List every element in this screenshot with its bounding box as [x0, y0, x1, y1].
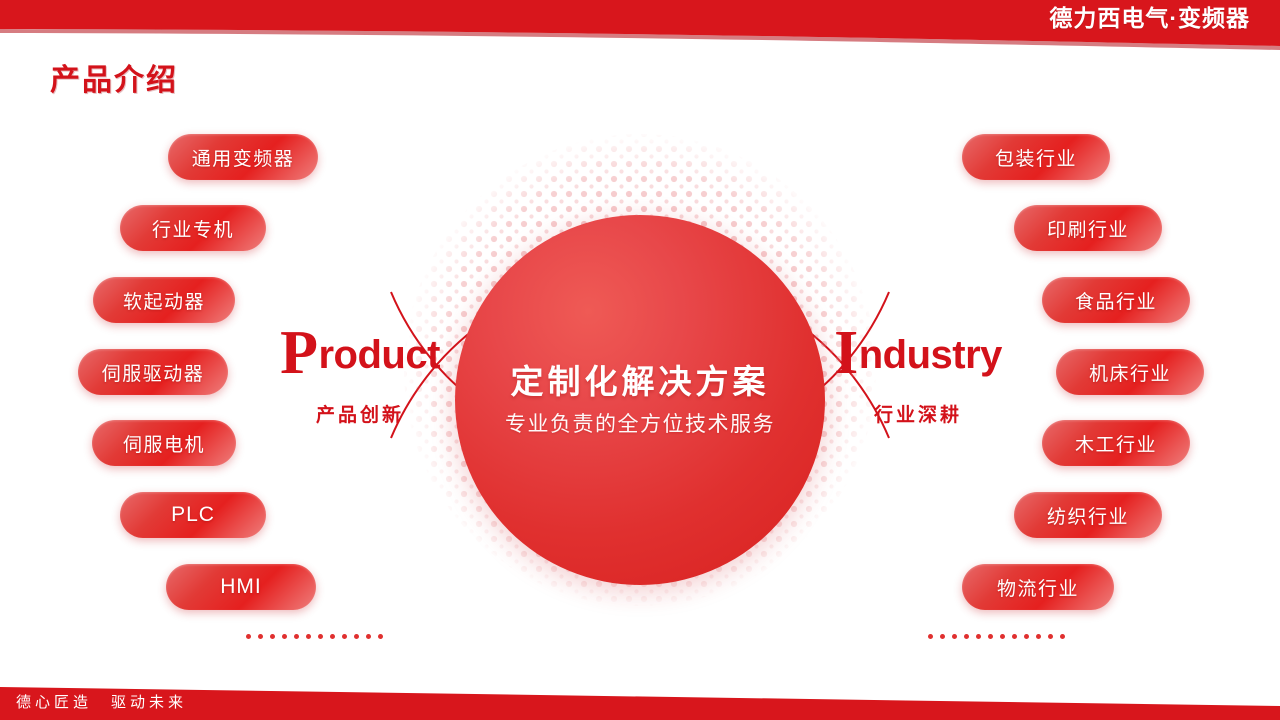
center-subtitle: 专业负责的全方位技术服务 [505, 408, 775, 438]
decorative-dot [928, 634, 933, 639]
decorative-dot [952, 634, 957, 639]
industry-pill-7[interactable]: 物流行业 [962, 564, 1114, 610]
decorative-dot [246, 634, 251, 639]
industry-heading-rest: ndustry [859, 333, 1002, 377]
industry-pill-2[interactable]: 印刷行业 [1014, 205, 1162, 251]
product-pill-label: 伺服电机 [123, 430, 205, 457]
product-pill-5[interactable]: 伺服电机 [92, 420, 236, 466]
industry-pill-label: 机床行业 [1089, 359, 1171, 386]
decorative-dot [1024, 634, 1029, 639]
industry-heading-cn: 行业深耕 [818, 400, 1018, 427]
product-dot-row [246, 634, 383, 639]
decorative-dot [270, 634, 275, 639]
industry-pill-5[interactable]: 木工行业 [1042, 420, 1190, 466]
decorative-dot [366, 634, 371, 639]
diagram-stage: 定制化解决方案 专业负责的全方位技术服务 Product 产品创新 Indust… [0, 0, 1280, 720]
product-heading-en: Product [250, 322, 470, 384]
industry-pill-1[interactable]: 包装行业 [962, 134, 1110, 180]
decorative-dot [258, 634, 263, 639]
industry-pill-label: 印刷行业 [1047, 215, 1129, 242]
decorative-dot [354, 634, 359, 639]
decorative-dot [1060, 634, 1065, 639]
industry-pill-label: 纺织行业 [1047, 502, 1129, 529]
decorative-dot [378, 634, 383, 639]
decorative-dot [1012, 634, 1017, 639]
decorative-dot [1048, 634, 1053, 639]
industry-heading-en: Industry [818, 322, 1018, 384]
slide-root: 德力西电气·变频器 产品介绍 [0, 0, 1280, 720]
product-heading-cn: 产品创新 [250, 400, 470, 427]
decorative-dot [318, 634, 323, 639]
decorative-dot [294, 634, 299, 639]
product-pill-label: 行业专机 [152, 215, 234, 242]
product-pill-4[interactable]: 伺服驱动器 [78, 349, 228, 395]
footer-slogan: 德心匠造 驱动未来 [16, 691, 187, 712]
product-pill-label: 通用变频器 [192, 144, 295, 171]
product-pill-label: HMI [220, 575, 262, 599]
center-title: 定制化解决方案 [511, 362, 770, 402]
industry-pill-6[interactable]: 纺织行业 [1014, 492, 1162, 538]
industry-pill-label: 食品行业 [1075, 287, 1157, 314]
decorative-dot [940, 634, 945, 639]
industry-pill-label: 木工行业 [1075, 430, 1157, 457]
industry-pill-label: 包装行业 [995, 144, 1077, 171]
product-pill-2[interactable]: 行业专机 [120, 205, 266, 251]
product-heading: Product 产品创新 [250, 322, 470, 427]
decorative-dot [988, 634, 993, 639]
product-pill-label: 软起动器 [123, 287, 205, 314]
industry-pill-3[interactable]: 食品行业 [1042, 277, 1190, 323]
industry-dot-row [928, 634, 1065, 639]
decorative-dot [1000, 634, 1005, 639]
decorative-dot [1036, 634, 1041, 639]
decorative-dot [282, 634, 287, 639]
industry-pill-4[interactable]: 机床行业 [1056, 349, 1204, 395]
decorative-dot [342, 634, 347, 639]
industry-pill-label: 物流行业 [997, 574, 1079, 601]
decorative-dot [306, 634, 311, 639]
product-pill-6[interactable]: PLC [120, 492, 266, 538]
footer-band-shape [0, 675, 1280, 720]
product-heading-rest: roduct [318, 333, 439, 377]
decorative-dot [964, 634, 969, 639]
product-heading-capital: P [280, 319, 318, 387]
product-pill-label: 伺服驱动器 [102, 359, 205, 386]
footer-band: 德心匠造 驱动未来 [0, 675, 1280, 720]
product-pill-1[interactable]: 通用变频器 [168, 134, 318, 180]
product-pill-label: PLC [171, 503, 215, 527]
decorative-dot [976, 634, 981, 639]
industry-heading-capital: I [834, 319, 859, 387]
product-pill-7[interactable]: HMI [166, 564, 316, 610]
center-circle: 定制化解决方案 专业负责的全方位技术服务 [455, 215, 825, 585]
product-pill-3[interactable]: 软起动器 [93, 277, 235, 323]
decorative-dot [330, 634, 335, 639]
industry-heading: Industry 行业深耕 [818, 322, 1018, 427]
